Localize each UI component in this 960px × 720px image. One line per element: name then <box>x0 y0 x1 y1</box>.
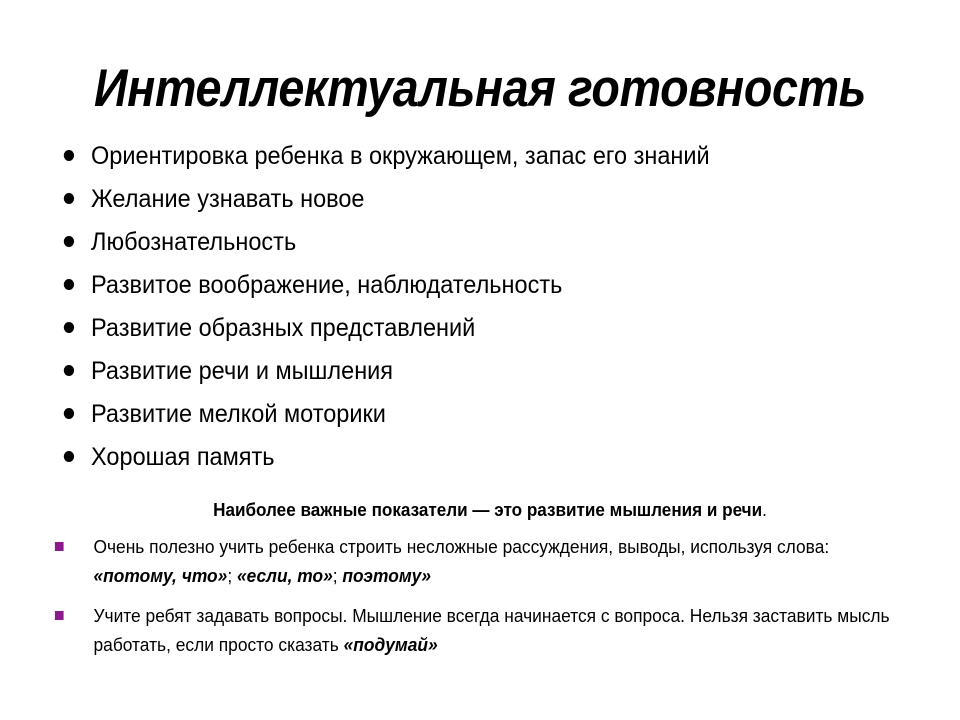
square-bullet-icon <box>55 542 64 551</box>
round-bullet-icon <box>64 322 74 333</box>
note-text-segment: ; <box>227 566 237 586</box>
round-bullet-icon <box>64 236 74 247</box>
round-bullet-icon <box>64 408 74 419</box>
note-emphasis-segment: «потому, что» <box>93 566 227 586</box>
note-emphasis-segment: «если, то» <box>237 566 333 586</box>
notes-list: Очень полезно учить ребенка строить несл… <box>52 533 922 671</box>
note-text-segment: Очень полезно учить ребенка строить несл… <box>93 537 829 557</box>
square-bullet-icon <box>55 611 64 620</box>
round-bullet-icon <box>64 193 74 204</box>
note-text-segment: ; <box>333 566 343 586</box>
list-item-label: Развитие образных представлений <box>91 314 475 342</box>
list-item-label: Развитие мелкой моторики <box>91 400 386 428</box>
list-item-label: Ориентировка ребенка в окружающем, запас… <box>91 142 710 170</box>
note-text-segment: Учите ребят задавать вопросы. Мышление в… <box>93 606 889 655</box>
slide-canvas: Интеллектуальная готовность Ориентировка… <box>0 0 960 720</box>
page-title: Интеллектуальная готовность <box>58 60 903 118</box>
list-item: Учите ребят задавать вопросы. Мышление в… <box>52 602 892 660</box>
list-item: Развитие мелкой моторики <box>60 397 868 440</box>
list-item: Развитие речи и мышления <box>60 354 868 397</box>
list-item-label: Развитие речи и мышления <box>91 357 393 385</box>
list-item: Хорошая память <box>60 440 868 483</box>
round-bullet-icon <box>64 150 74 161</box>
list-item: Развитие образных представлений <box>60 311 868 354</box>
round-bullet-icon <box>64 365 74 376</box>
list-item: Развитое воображение, наблюдательность <box>60 268 868 311</box>
list-item-label: Желание узнавать новое <box>91 185 364 213</box>
main-bullet-list: Ориентировка ребенка в окружающем, запас… <box>60 139 920 483</box>
note-emphasis-segment: «подумай» <box>344 635 438 655</box>
list-item: Желание узнавать новое <box>60 182 868 225</box>
emphasis-bold-text: Наиболее важные показатели — это развити… <box>213 500 762 520</box>
emphasis-trailing-text: . <box>762 500 767 520</box>
list-item-label: Любознательность <box>91 228 296 256</box>
emphasis-statement: Наиболее важные показатели — это развити… <box>82 498 899 522</box>
note-emphasis-segment: поэтому» <box>342 566 431 586</box>
list-item: Любознательность <box>60 225 868 268</box>
list-item: Очень полезно учить ребенка строить несл… <box>52 533 892 591</box>
round-bullet-icon <box>64 451 74 462</box>
list-item-label: Хорошая память <box>91 443 274 471</box>
list-item: Ориентировка ребенка в окружающем, запас… <box>60 139 868 182</box>
list-item-label: Развитое воображение, наблюдательность <box>91 271 562 299</box>
round-bullet-icon <box>64 279 74 290</box>
